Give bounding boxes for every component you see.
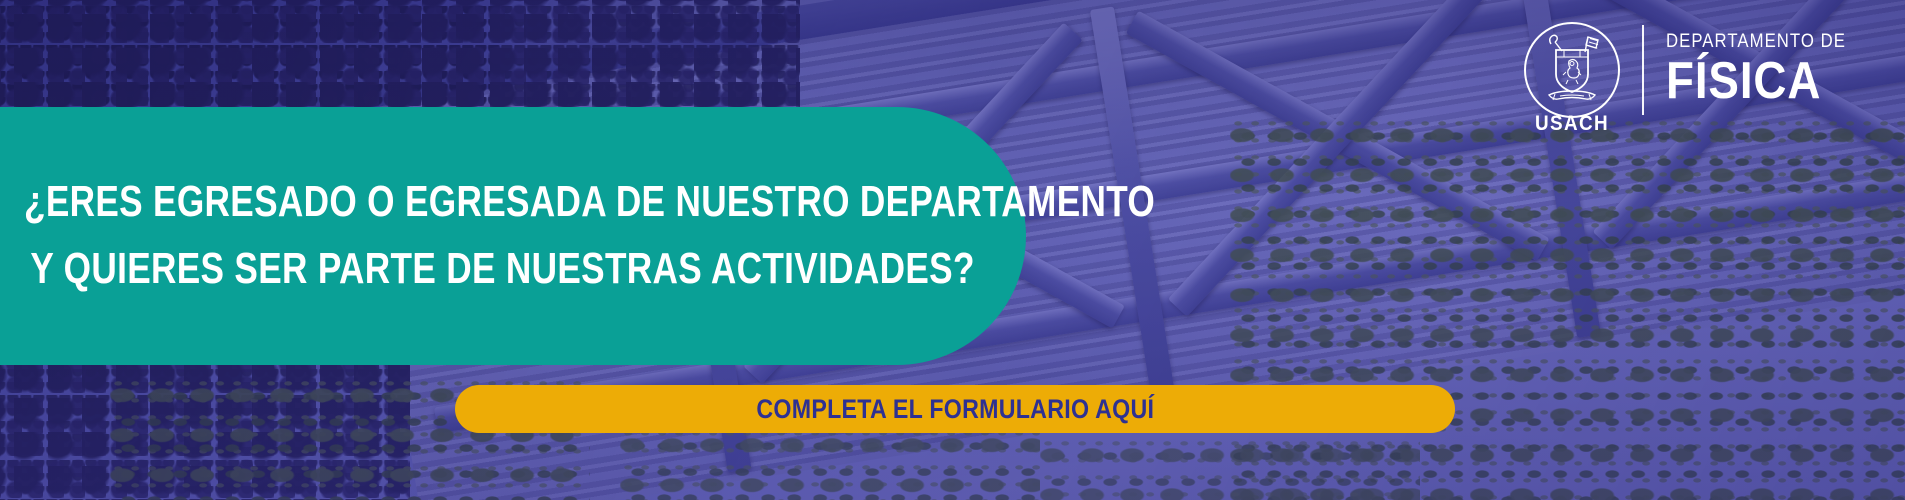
headline-line-2: Y QUIERES SER PARTE DE NUESTRAS ACTIVIDA…	[24, 236, 826, 303]
headline-line-1: ¿ERES EGRESADO O EGRESADA DE NUESTRO DEP…	[24, 169, 826, 236]
department-eyebrow: DEPARTAMENTO DE	[1666, 31, 1846, 53]
brand-lockup: USACH DEPARTAMENTO DE FÍSICA	[1524, 22, 1871, 118]
usach-seal-icon: USACH	[1524, 22, 1620, 118]
complete-form-button-label: COMPLETA EL FORMULARIO AQUÍ	[756, 394, 1154, 425]
complete-form-button[interactable]: COMPLETA EL FORMULARIO AQUÍ	[455, 385, 1455, 433]
department-name: FÍSICA	[1666, 55, 1846, 108]
brand-divider	[1642, 25, 1644, 115]
department-title-block: DEPARTAMENTO DE FÍSICA	[1666, 31, 1871, 108]
usach-fisica-banner: ¿ERES EGRESADO O EGRESADA DE NUESTRO DEP…	[0, 0, 1905, 500]
usach-seal-label: USACH	[1536, 112, 1610, 136]
headline-panel: ¿ERES EGRESADO O EGRESADA DE NUESTRO DEP…	[0, 107, 1026, 365]
